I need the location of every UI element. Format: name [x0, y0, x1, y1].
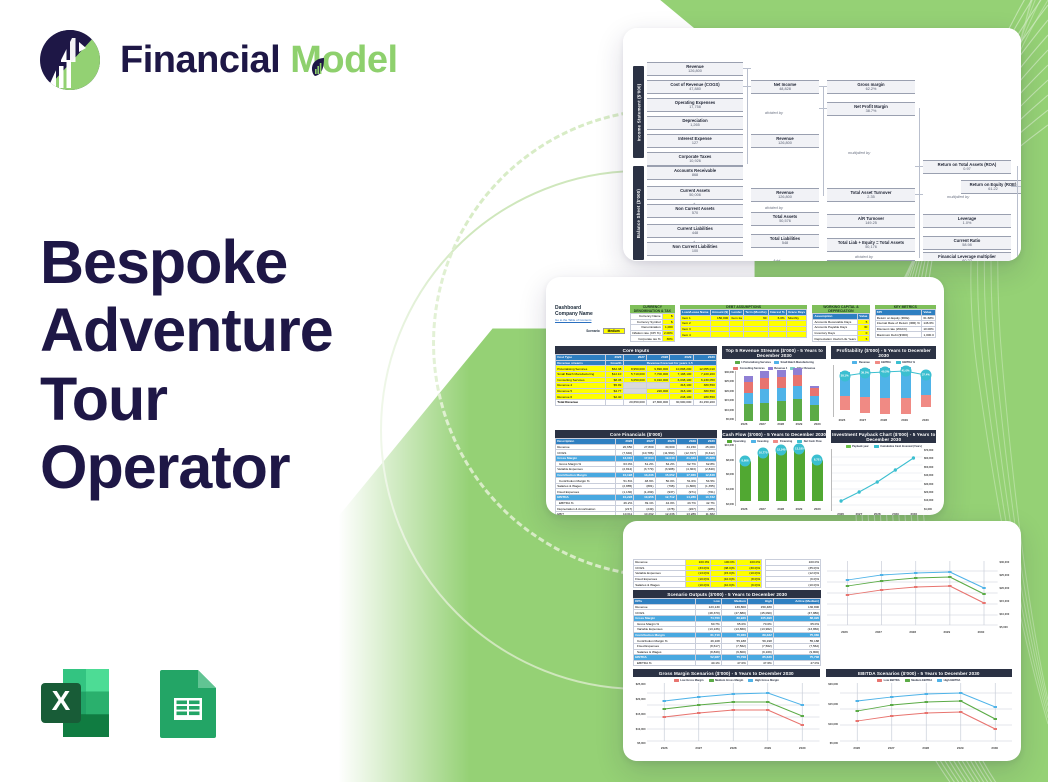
dashboard-sheet: Dashboard Company Name Go to the Table o…	[555, 305, 936, 503]
node-corporate-taxes: Corporate Taxes10,926	[647, 152, 743, 166]
headline-line-3: Tour	[40, 365, 420, 433]
panel-working-capital: WORKING CAPITAL & DEPRECIATION Assumptio…	[812, 305, 869, 342]
balance-sheet-spine: Balance Sheet ($'000)	[633, 166, 644, 260]
chart-legend: 1 Pictorialising Services Small Batch Ma…	[722, 359, 827, 371]
panel-debt-assumptions: DEBT ASSUMPTIONS Loan/Lease NameAmount (…	[680, 305, 807, 338]
promo-slide: Financial Model Bespoke Adventure Tour O…	[0, 0, 1048, 782]
driver-tree-diagram: Income Statement ($'000) Balance Sheet (…	[633, 62, 1013, 239]
scenario-row-top: Revenue100.0%100.0%100.0% COGS(33.0)%(38…	[633, 559, 1012, 666]
brand-name: Financial Model	[120, 41, 398, 79]
op-multiplied-by-2: multiplied by	[947, 194, 969, 199]
driver-tree-sheet: Income Statement ($'000) Balance Sheet (…	[623, 28, 1021, 261]
node-accounts-receivable: Accounts Receivable868	[647, 166, 743, 180]
chart-cash-flow: Cash Flow ($'000) - 5 Years to December …	[722, 430, 827, 515]
brand-name-part1: Financial	[120, 39, 280, 81]
headline-line-2: Adventure	[40, 296, 420, 364]
op-multiplied-by-1: multiplied by	[848, 150, 870, 155]
chart-plot: $5,000 $10,000 $15,000 $20,000 $25,000 $…	[722, 371, 827, 421]
core-inputs-block: Core Inputs Cost Type2026202720282029203…	[555, 346, 717, 426]
financial-model-circle-logo-icon	[36, 26, 104, 94]
page-title: Bespoke Adventure Tour Operator	[40, 228, 420, 501]
node-depreciation: Depreciation1,265	[647, 116, 743, 130]
scenario-sheet: Revenue100.0%100.0%100.0% COGS(33.0)%(38…	[633, 559, 1012, 747]
node-current-assets: Current Assets50,006	[647, 186, 743, 200]
microsoft-excel-icon[interactable]: X	[36, 664, 114, 742]
node-total-assets: Total Assets50,576	[751, 212, 819, 226]
leaf-chart-glyph-icon	[310, 56, 326, 78]
core-financials-block: Core Financials ($'000) Description20262…	[555, 430, 717, 515]
chart-investment-payback: Investment Payback Chart ($'000) - 5 Yea…	[831, 430, 936, 515]
chart-plot: $30,000 $25,000 $20,000 $15,000 $10,000 …	[827, 561, 1012, 629]
node-revenue-mid2: Revenue126,800	[751, 188, 819, 202]
google-sheets-icon[interactable]	[148, 664, 226, 742]
chart-revenue-scenarios: $30,000 $25,000 $20,000 $15,000 $10,000 …	[827, 559, 1012, 666]
node-revenue-mid: Revenue126,800	[751, 134, 819, 148]
node-current-ratio: Current Ratio58.98	[923, 236, 1011, 250]
node-net-income: Net Income48,828	[751, 80, 819, 94]
panel-key-metrics: KEY METRICS KPIValue Return on Equity (R…	[875, 305, 936, 338]
node-gross-margin: Gross margin62.2%	[827, 80, 915, 94]
op-divided-by-2: divided by	[765, 205, 783, 210]
file-format-icons: X	[36, 664, 226, 742]
op-add: Add	[773, 258, 780, 261]
chart-plot: 38.1% 39.5% 40.2% 41.0% 37.4%	[833, 365, 936, 417]
op-divided-by-3: divided by	[855, 254, 873, 259]
headline-line-1: Bespoke	[40, 228, 420, 296]
node-leverage: Leverage1.0%	[923, 214, 1011, 228]
node-non-current-liabilities: Non Current Liabilities100	[647, 242, 743, 256]
scenario-row-bottom: Gross Margin Scenarios ($'000) - 5 Years…	[633, 669, 1012, 750]
scenario-card[interactable]: Revenue100.0%100.0%100.0% COGS(33.0)%(38…	[623, 521, 1021, 761]
scenario-label: Scenario	[586, 329, 599, 333]
node-non-current-assets: Non Current Assets570	[647, 204, 743, 218]
node-total-liab-equity: Total Liab + Equity = Total Assets50,176	[827, 238, 915, 252]
node-ar-turnover: A/R Turnover149.25	[827, 214, 915, 228]
dashboard-row-2: Core Financials ($'000) Description20262…	[555, 430, 936, 515]
node-total-asset-turnover: Total Asset Turnover2.35	[827, 188, 915, 202]
svg-text:X: X	[52, 685, 71, 716]
chart-plot: $70,000 $60,000 $50,000 $40,000 $30,000 …	[831, 449, 936, 511]
node-opex: Operating Expenses17,758	[647, 98, 743, 112]
node-interest-expense: Interest Expense127	[647, 134, 743, 148]
chart-ebitda-scenarios: EBITDA Scenarios ($'000) - 5 Years to De…	[826, 669, 1013, 750]
scenario-value[interactable]: Medium	[603, 328, 625, 335]
income-statement-spine: Income Statement ($'000)	[633, 66, 644, 158]
brand-name-part2: Model	[290, 39, 397, 81]
assumption-tables: Revenue100.0%100.0%100.0% COGS(33.0)%(38…	[633, 559, 821, 588]
scenario-tables: Revenue100.0%100.0%100.0% COGS(33.0)%(38…	[633, 559, 821, 666]
node-financial-leverage-multiplier: Financial Leverage multiplier60.22	[923, 252, 1011, 261]
brand-logo[interactable]: Financial Model	[36, 26, 398, 94]
op-divided-by-1: divided by	[765, 110, 783, 115]
node-roa: Return on Total Assets (ROA)0.97	[923, 160, 1011, 174]
headline-line-4: Operator	[40, 433, 420, 501]
dashboard-row-1: Core Inputs Cost Type2026202720282029203…	[555, 346, 936, 426]
dashboard-card[interactable]: Dashboard Company Name Go to the Table o…	[546, 277, 944, 515]
dashboard-brand: Dashboard Company Name Go to the Table o…	[555, 305, 625, 334]
node-net-profit-margin: Net Profit Margin38.7%	[827, 102, 915, 116]
node-total-liabilities: Total Liabilities548	[751, 234, 819, 248]
panel-currency-tax: CURRENCY DENOMINATION & TAX Currency Nam…	[630, 305, 675, 342]
node-shareholders-equity: Shareholder's Equity800	[827, 260, 915, 261]
toc-link[interactable]: Go to the Table of Contents	[555, 318, 625, 322]
node-current-liabilities: Current Liabilities448	[647, 224, 743, 238]
node-revenue: Revenue126,800	[647, 62, 743, 76]
chart-plot: $25,000 $20,000 $15,000 $10,000 $5,000	[633, 683, 820, 745]
driver-tree-card[interactable]: Income Statement ($'000) Balance Sheet (…	[623, 28, 1021, 261]
chart-gross-margin-scenarios: Gross Margin Scenarios ($'000) - 5 Years…	[633, 669, 820, 750]
chart-top-revenue-streams: Top 5 Revenue Streams ($'000) - 5 Years …	[722, 346, 827, 426]
chart-plot: $2,000 $4,000 $6,000 $8,000 $10,000 8,60…	[722, 444, 827, 506]
dashboard-header: Dashboard Company Name Go to the Table o…	[555, 305, 936, 342]
chart-plot: $20,000 $15,000 $10,000 $5,000	[826, 683, 1013, 745]
node-roe: Return on Equity (ROE)61.22	[961, 180, 1021, 194]
node-cogs: Cost of Revenue (COGS)47,880	[647, 80, 743, 94]
chart-profitability: Profitability ($'000) - 5 Years to Decem…	[831, 346, 936, 426]
